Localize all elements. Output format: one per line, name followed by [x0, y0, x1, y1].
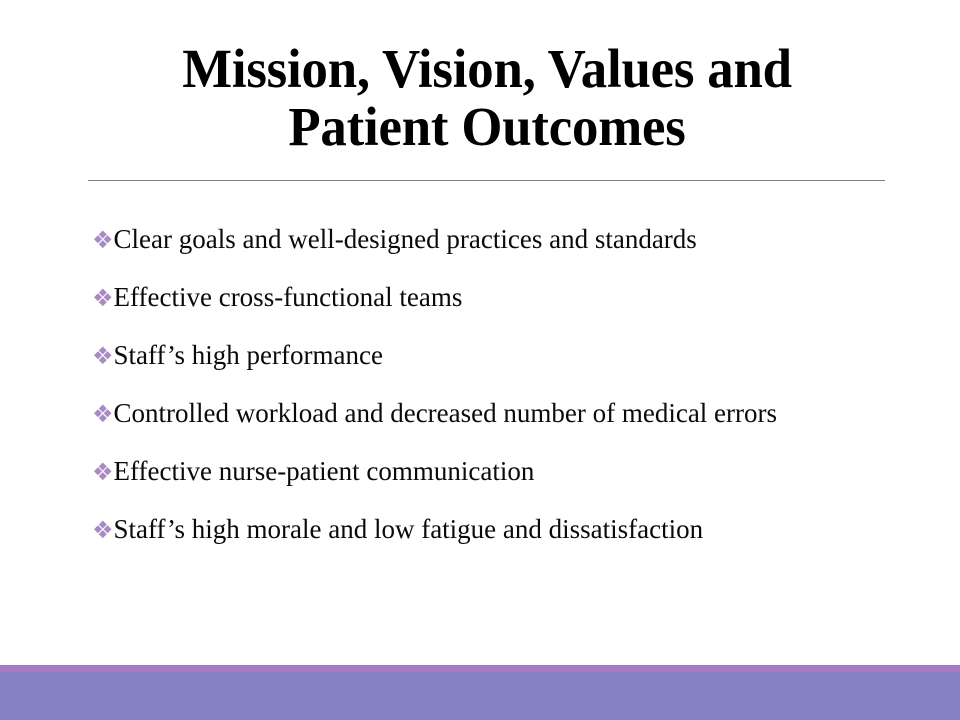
- list-item: ❖Effective nurse-patient communication: [92, 454, 912, 489]
- title-divider-rule: [88, 180, 885, 181]
- page-title: Mission, Vision, Values and Patient Outc…: [88, 40, 886, 156]
- diamond-cluster-bullet-icon: ❖: [92, 342, 114, 370]
- page-title-line-1: Mission, Vision, Values and: [104, 40, 870, 98]
- list-item-label: Staff’s high morale and low fatigue and …: [114, 514, 704, 544]
- list-item: ❖Effective cross-functional teams: [92, 280, 912, 315]
- list-item-label: Staff’s high performance: [114, 340, 383, 370]
- footer-band-upper: [0, 665, 960, 672]
- footer-band-lower: [0, 672, 960, 720]
- diamond-cluster-bullet-icon: ❖: [92, 284, 114, 312]
- bullet-list: ❖Clear goals and well-designed practices…: [92, 222, 912, 547]
- list-item: ❖Staff’s high performance: [92, 338, 912, 373]
- diamond-cluster-bullet-icon: ❖: [92, 516, 114, 544]
- list-item-label: Effective nurse-patient communication: [114, 456, 535, 486]
- list-item-label: Effective cross-functional teams: [114, 282, 463, 312]
- slide-canvas: Mission, Vision, Values and Patient Outc…: [0, 0, 960, 720]
- list-item: ❖Clear goals and well-designed practices…: [92, 222, 912, 257]
- diamond-cluster-bullet-icon: ❖: [92, 458, 114, 486]
- diamond-cluster-bullet-icon: ❖: [92, 400, 114, 428]
- diamond-cluster-bullet-icon: ❖: [92, 226, 114, 254]
- page-title-line-2: Patient Outcomes: [104, 98, 870, 156]
- list-item: ❖Controlled workload and decreased numbe…: [92, 396, 912, 431]
- list-item-label: Clear goals and well-designed practices …: [114, 224, 697, 254]
- list-item: ❖Staff’s high morale and low fatigue and…: [92, 512, 912, 547]
- list-item-label: Controlled workload and decreased number…: [114, 398, 778, 428]
